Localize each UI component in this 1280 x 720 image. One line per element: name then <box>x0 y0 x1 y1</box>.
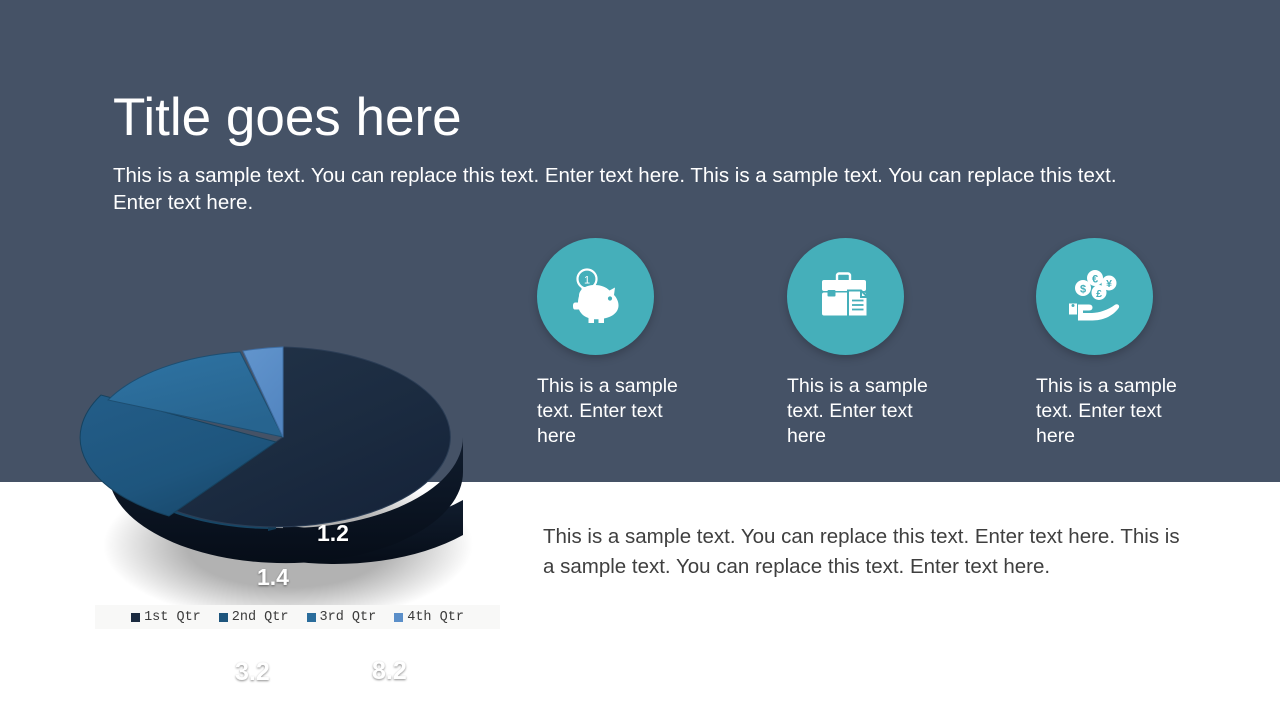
svg-text:£: £ <box>1096 288 1102 300</box>
pie-value-label-q4: 1.2 <box>317 520 349 547</box>
feature-column-1[interactable]: 1 This is a sample text. Enter text here <box>537 238 767 449</box>
feature-column-3[interactable]: € ¥ $ £ This is a sample text. Enter tex… <box>1036 238 1266 449</box>
title-block: Title goes here This is a sample text. Y… <box>113 88 1153 216</box>
legend-label-q1: 1st Qtr <box>144 610 201 625</box>
legend-label-q4: 4th Qtr <box>407 610 464 625</box>
feature-icon-circle-1[interactable]: 1 <box>537 238 654 355</box>
pie-value-label-q2: 3.2 <box>235 658 270 687</box>
feature-icon-circle-3[interactable]: € ¥ $ £ <box>1036 238 1153 355</box>
bottom-paragraph: This is a sample text. You can replace t… <box>543 522 1191 582</box>
legend-swatch-q2 <box>219 613 228 622</box>
legend-swatch-q1 <box>131 613 140 622</box>
hand-money-icon: € ¥ $ £ <box>1064 269 1126 325</box>
pie-chart-legend: 1st Qtr 2nd Qtr 3rd Qtr 4th Qtr <box>95 605 500 629</box>
legend-label-q3: 3rd Qtr <box>320 610 377 625</box>
pie-chart-graphic: 8.2 3.2 1.4 1.2 <box>80 245 510 575</box>
slide-canvas: Title goes here This is a sample text. Y… <box>0 0 1280 720</box>
legend-item-q4[interactable]: 4th Qtr <box>394 610 464 625</box>
feature-caption-2: This is a sample text. Enter text here <box>787 374 952 449</box>
legend-swatch-q3 <box>307 613 316 622</box>
pie-chart-svg <box>80 245 510 635</box>
feature-caption-1: This is a sample text. Enter text here <box>537 374 702 449</box>
pie-chart: 8.2 3.2 1.4 1.2 <box>80 245 510 635</box>
page-subtitle: This is a sample text. You can replace t… <box>113 162 1123 216</box>
legend-item-q1[interactable]: 1st Qtr <box>131 610 201 625</box>
briefcase-document-icon <box>815 269 877 325</box>
legend-item-q3[interactable]: 3rd Qtr <box>307 610 377 625</box>
svg-text:$: $ <box>1079 283 1085 295</box>
legend-item-q2[interactable]: 2nd Qtr <box>219 610 289 625</box>
legend-swatch-q4 <box>394 613 403 622</box>
legend-label-q2: 2nd Qtr <box>232 610 289 625</box>
svg-text:€: € <box>1091 273 1097 285</box>
feature-icon-circle-2[interactable] <box>787 238 904 355</box>
page-title: Title goes here <box>113 88 1153 148</box>
piggy-bank-icon: 1 <box>565 268 627 326</box>
pie-value-label-q3: 1.4 <box>257 564 289 591</box>
feature-column-2[interactable]: This is a sample text. Enter text here <box>787 238 1017 449</box>
feature-caption-3: This is a sample text. Enter text here <box>1036 374 1201 449</box>
svg-text:¥: ¥ <box>1106 278 1112 290</box>
pie-value-label-q1: 8.2 <box>372 657 407 686</box>
svg-text:1: 1 <box>583 274 589 286</box>
